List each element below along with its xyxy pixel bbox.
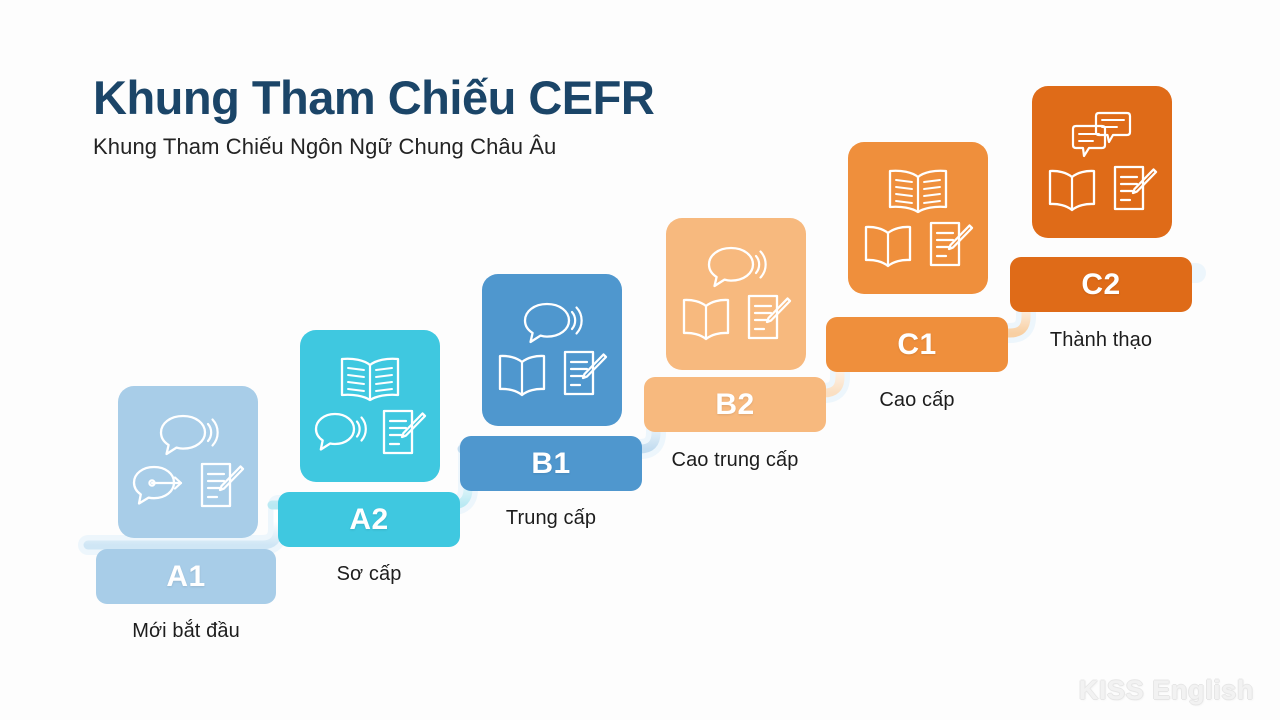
document-pencil-icon — [925, 219, 975, 271]
speech-bubble-sound-icon — [521, 300, 583, 346]
speech-bubble-arrow-icon — [130, 463, 186, 509]
icon-row-top — [157, 412, 219, 458]
open-book-icon — [1045, 164, 1099, 214]
level-caption-a1: Mới bắt đầu — [96, 620, 276, 643]
document-pencil-icon — [559, 348, 609, 400]
level-bar-c1[interactable]: C1 — [826, 317, 1008, 372]
open-book-lines-icon — [337, 353, 403, 405]
icon-row-top — [885, 165, 951, 217]
document-pencil-icon — [378, 407, 428, 459]
icon-row-bottom — [1045, 163, 1159, 215]
speech-bubble-sound-icon — [705, 244, 767, 290]
level-icon-card-b1 — [482, 274, 622, 426]
level-bar-a2[interactable]: A2 — [278, 492, 460, 547]
icon-row-bottom — [679, 292, 793, 344]
level-bar-b2[interactable]: B2 — [644, 377, 826, 432]
level-caption-b1: Trung cấp — [460, 507, 642, 530]
watermark: KISS English — [1079, 675, 1254, 706]
level-bar-a1[interactable]: A1 — [96, 549, 276, 604]
document-pencil-icon — [1109, 163, 1159, 215]
level-icon-card-b2 — [666, 218, 806, 370]
icon-row-bottom — [130, 460, 246, 512]
level-caption-c2: Thành thạo — [1010, 329, 1192, 352]
open-book-icon — [679, 293, 733, 343]
level-bar-c2[interactable]: C2 — [1010, 257, 1192, 312]
level-caption-c1: Cao cấp — [826, 389, 1008, 412]
open-book-icon — [495, 349, 549, 399]
level-code-a2: A2 — [349, 503, 388, 537]
document-pencil-icon — [196, 460, 246, 512]
level-code-c2: C2 — [1081, 268, 1120, 302]
document-pencil-icon — [743, 292, 793, 344]
icon-row-top — [1069, 109, 1135, 161]
icon-row-top — [521, 300, 583, 346]
level-code-b2: B2 — [715, 388, 754, 422]
icon-row-top — [705, 244, 767, 290]
open-book-lines-icon — [885, 165, 951, 217]
infographic-canvas: Khung Tham Chiếu CEFR Khung Tham Chiếu N… — [0, 0, 1280, 720]
icon-row-bottom — [495, 348, 609, 400]
level-code-b1: B1 — [531, 447, 570, 481]
level-code-a1: A1 — [166, 560, 205, 594]
icon-row-bottom — [312, 407, 428, 459]
speech-bubble-sound-icon — [157, 412, 219, 458]
chat-bubbles-icon — [1069, 109, 1135, 161]
level-bar-b1[interactable]: B1 — [460, 436, 642, 491]
level-icon-card-c2 — [1032, 86, 1172, 238]
open-book-icon — [861, 220, 915, 270]
level-code-c1: C1 — [897, 328, 936, 362]
speech-bubble-sound-icon — [312, 410, 368, 456]
level-caption-a2: Sơ cấp — [278, 563, 460, 586]
level-caption-b2: Cao trung cấp — [644, 449, 826, 472]
icon-row-top — [337, 353, 403, 405]
icon-row-bottom — [861, 219, 975, 271]
level-icon-card-a2 — [300, 330, 440, 482]
level-icon-card-c1 — [848, 142, 988, 294]
level-icon-card-a1 — [118, 386, 258, 538]
